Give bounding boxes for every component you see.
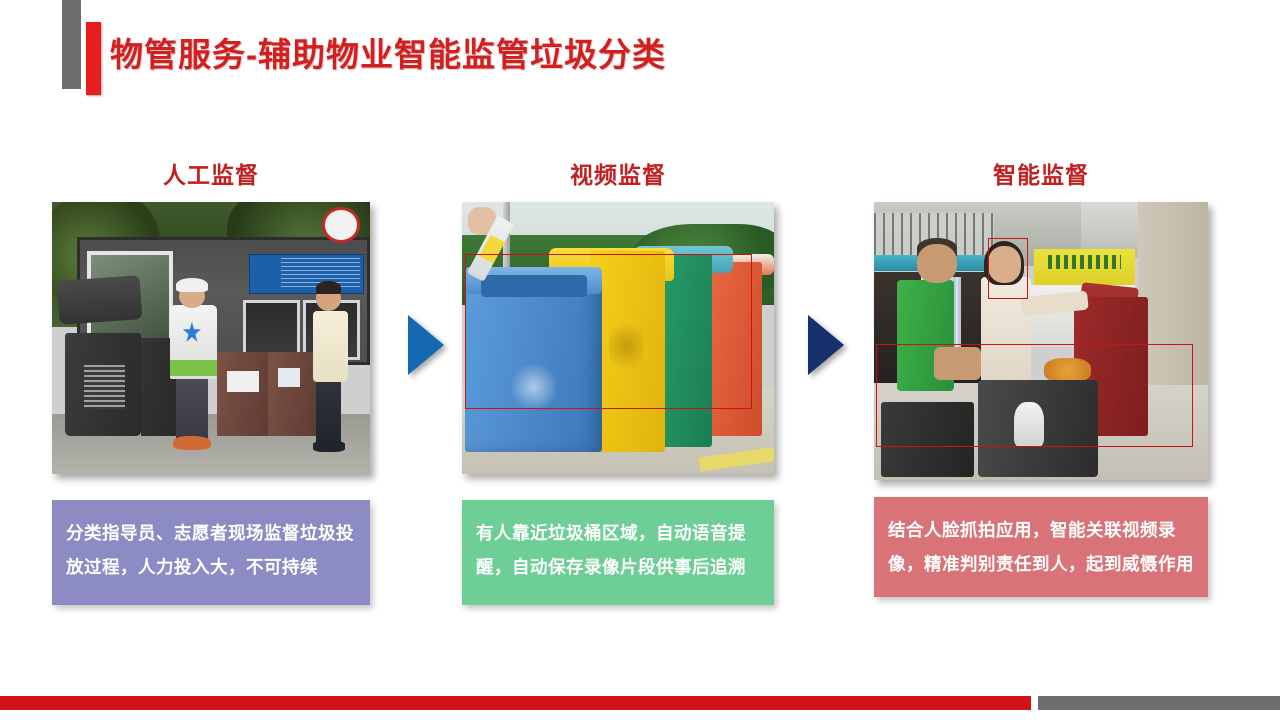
caption-smart-supervision: 结合人脸抓拍应用，智能关联视频录像，精准判别责任到人，起到威慑作用 [874, 497, 1208, 597]
resident-shirt [313, 311, 348, 382]
title-gray-accent-bar [62, 0, 81, 89]
photo-video-scene [462, 202, 774, 474]
smart-detection-region-box [876, 344, 1193, 447]
column-manual-supervision: 人工监督 [52, 160, 370, 474]
photo-manual-scene [52, 202, 370, 474]
video-detection-region-box [465, 254, 752, 409]
bin-brown-tag-left [227, 371, 259, 393]
arrow-manual-to-video-icon [408, 315, 444, 375]
footer-gray-bar [1038, 696, 1280, 710]
bin-brown-second [268, 352, 316, 436]
volunteer-legs [176, 376, 208, 441]
round-traffic-sign-icon [322, 207, 360, 242]
bin-black-open-lid [57, 275, 143, 324]
volunteer-shoes [173, 436, 211, 450]
arrow-video-to-smart-icon [808, 315, 844, 375]
column-video-supervision: 视频监督 [462, 160, 774, 474]
volunteer-vest-green-band [170, 360, 218, 376]
footer-red-bar [0, 696, 1031, 710]
resident-shoes [313, 441, 345, 452]
column-smart-supervision: 智能监督 [874, 160, 1208, 480]
photo-smart-supervision [874, 202, 1208, 480]
resident-legs [316, 379, 341, 444]
bin-brown-tag-right [278, 368, 300, 387]
photo-video-supervision [462, 202, 774, 474]
slide-header: 物管服务-辅助物业智能监管垃圾分类 [0, 0, 1280, 110]
column-heading-video: 视频监督 [462, 160, 774, 190]
face-capture-box [988, 238, 1028, 299]
photo-manual-supervision [52, 202, 370, 474]
column-heading-smart: 智能监督 [874, 160, 1208, 190]
volunteer-cap [176, 278, 208, 292]
caption-manual-supervision: 分类指导员、志愿者现场监督垃圾投放过程，人力投入大，不可持续 [52, 500, 370, 605]
page-title: 物管服务-辅助物业智能监管垃圾分类 [110, 28, 666, 76]
banner-text-lines [1048, 255, 1121, 269]
title-red-accent-bar [86, 22, 101, 95]
column-heading-manual: 人工监督 [52, 160, 370, 190]
caption-video-supervision: 有人靠近垃圾桶区域，自动语音提醒，自动保存录像片段供事后追溯 [462, 500, 774, 605]
photo-smart-scene [874, 202, 1208, 480]
bin-brown-first [217, 352, 268, 436]
worker-head [917, 244, 957, 283]
bin-recycling-label [84, 365, 125, 409]
resident-hair [316, 281, 341, 295]
